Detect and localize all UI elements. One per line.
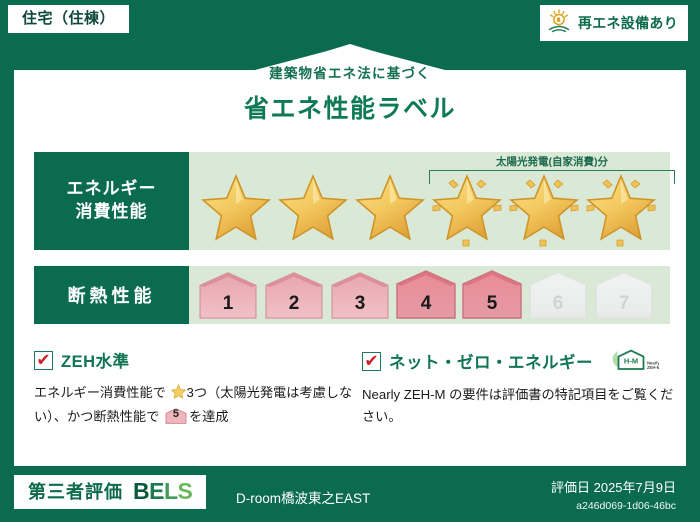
star-rating [189,174,670,248]
renewable-energy-badge: 再エネ設備あり [540,5,688,41]
third-party-label: 第三者評価 [28,483,123,501]
zeh-m-logo: H-M Nearly ZEH-M [607,348,659,374]
criteria-zeh-title: ZEH水準 [61,348,130,372]
criteria-zeh-heading: ✔ ZEH水準 [34,348,354,372]
solar-sun-icon [546,9,572,37]
star-icon [354,174,426,248]
svg-text:H-M: H-M [624,357,638,366]
criteria-zeh-body: エネルギー消費性能で 3つ（太陽光発電は考慮しない）、かつ断熱性能で 5 を達成 [34,382,354,428]
criteria-nze-title: ネット・ゼロ・エネルギー [389,349,593,373]
star-icon [431,174,503,248]
evaluation-date: 評価日 2025年7月9日 [551,477,676,496]
house-number: 2 [261,293,327,315]
bels-badge: 第三者評価 BELS [14,475,206,509]
insulation-performance-row: 断熱性能 1 [34,266,670,324]
criteria-nze-body: Nearly ZEH-M の要件は評価書の特記項目をご覧ください。 [362,384,682,428]
insulation-level-2: 2 [261,269,327,321]
energy-performance-row: エネルギー 消費性能 太陽光発電(自家消費)分 [34,152,670,250]
star-icon [200,174,272,248]
house-number: 4 [393,293,459,315]
evaluation-id: a246d069-1d06-46bc [551,500,676,512]
bels-logo: BELS [133,480,192,503]
star-base [200,174,272,248]
star-icon [277,174,349,248]
house-number: 5 [459,293,525,315]
insulation-level-scale: 1 2 3 [195,269,664,321]
page-title: 建築物省エネ法に基づく 省エネ性能ラベル [0,62,700,125]
star-base [354,174,426,248]
energy-row-body: 太陽光発電(自家消費)分 [189,152,670,250]
inline-house-badge: 5 [165,408,187,424]
star-solar [585,174,657,248]
insulation-row-body: 1 2 3 [189,266,670,324]
check-icon: ✔ [36,351,50,368]
criteria-nze-heading: ✔ ネット・ゼロ・エネルギー H-M Nearly ZEH-M [362,348,682,374]
evaluation-meta: 評価日 2025年7月9日 a246d069-1d06-46bc [551,477,676,512]
insulation-level-6: 6 [525,269,591,321]
energy-row-label: エネルギー 消費性能 [34,152,189,250]
solar-bracket-label: 太陽光発電(自家消費)分 [429,154,675,169]
insulation-level-3: 3 [327,269,393,321]
insulation-level-4: 4 [393,267,459,321]
insulation-level-5: 5 [459,267,525,321]
footer-bar: 第三者評価 BELS D-room橋波東之EAST 評価日 2025年7月9日 … [0,466,700,522]
insulation-level-7: 7 [591,269,657,321]
inline-star-icon [171,384,186,406]
bels-letter: B [133,478,149,504]
house-number: 7 [591,293,657,315]
renewable-badge-label: 再エネ設備あり [578,16,678,30]
star-solar [508,174,580,248]
bels-letter: S [178,478,193,504]
bels-letter: L [164,478,178,504]
house-number: 6 [525,293,591,315]
house-number: 3 [327,293,393,315]
check-box-nze: ✔ [362,352,381,371]
check-box-zeh: ✔ [34,351,53,370]
insulation-level-1: 1 [195,269,261,321]
bels-letter: E [149,478,164,504]
svg-text:ZEH-M: ZEH-M [647,365,659,370]
energy-row-label-line1: エネルギー [67,178,157,201]
check-icon: ✔ [364,352,378,369]
criteria-zeh-body-part3: を達成 [189,409,229,424]
housing-type-tag: 住宅（住棟） [8,5,129,33]
star-solar [431,174,503,248]
star-icon [585,174,657,248]
house-number: 1 [195,293,261,315]
star-icon [508,174,580,248]
criteria-zeh-block: ✔ ZEH水準 エネルギー消費性能で 3つ（太陽光発電は考慮しない）、かつ断熱性… [34,348,354,428]
star-base [277,174,349,248]
energy-row-label-line2: 消費性能 [76,201,148,224]
inline-house-number: 5 [165,405,187,423]
criteria-zeh-body-part1: エネルギー消費性能で [34,385,166,400]
criteria-nze-block: ✔ ネット・ゼロ・エネルギー H-M Nearly ZEH-M Nearly Z… [362,348,682,428]
title-main: 省エネ性能ラベル [0,89,700,125]
project-name: D-room橋波東之EAST [236,487,370,507]
title-subtitle: 建築物省エネ法に基づく [0,62,700,82]
insulation-row-label: 断熱性能 [34,266,189,324]
energy-performance-label: 住宅（住棟） 再エネ設備あり 建築物省エネ法に基づく 省エネ性能ラベル [0,0,700,522]
